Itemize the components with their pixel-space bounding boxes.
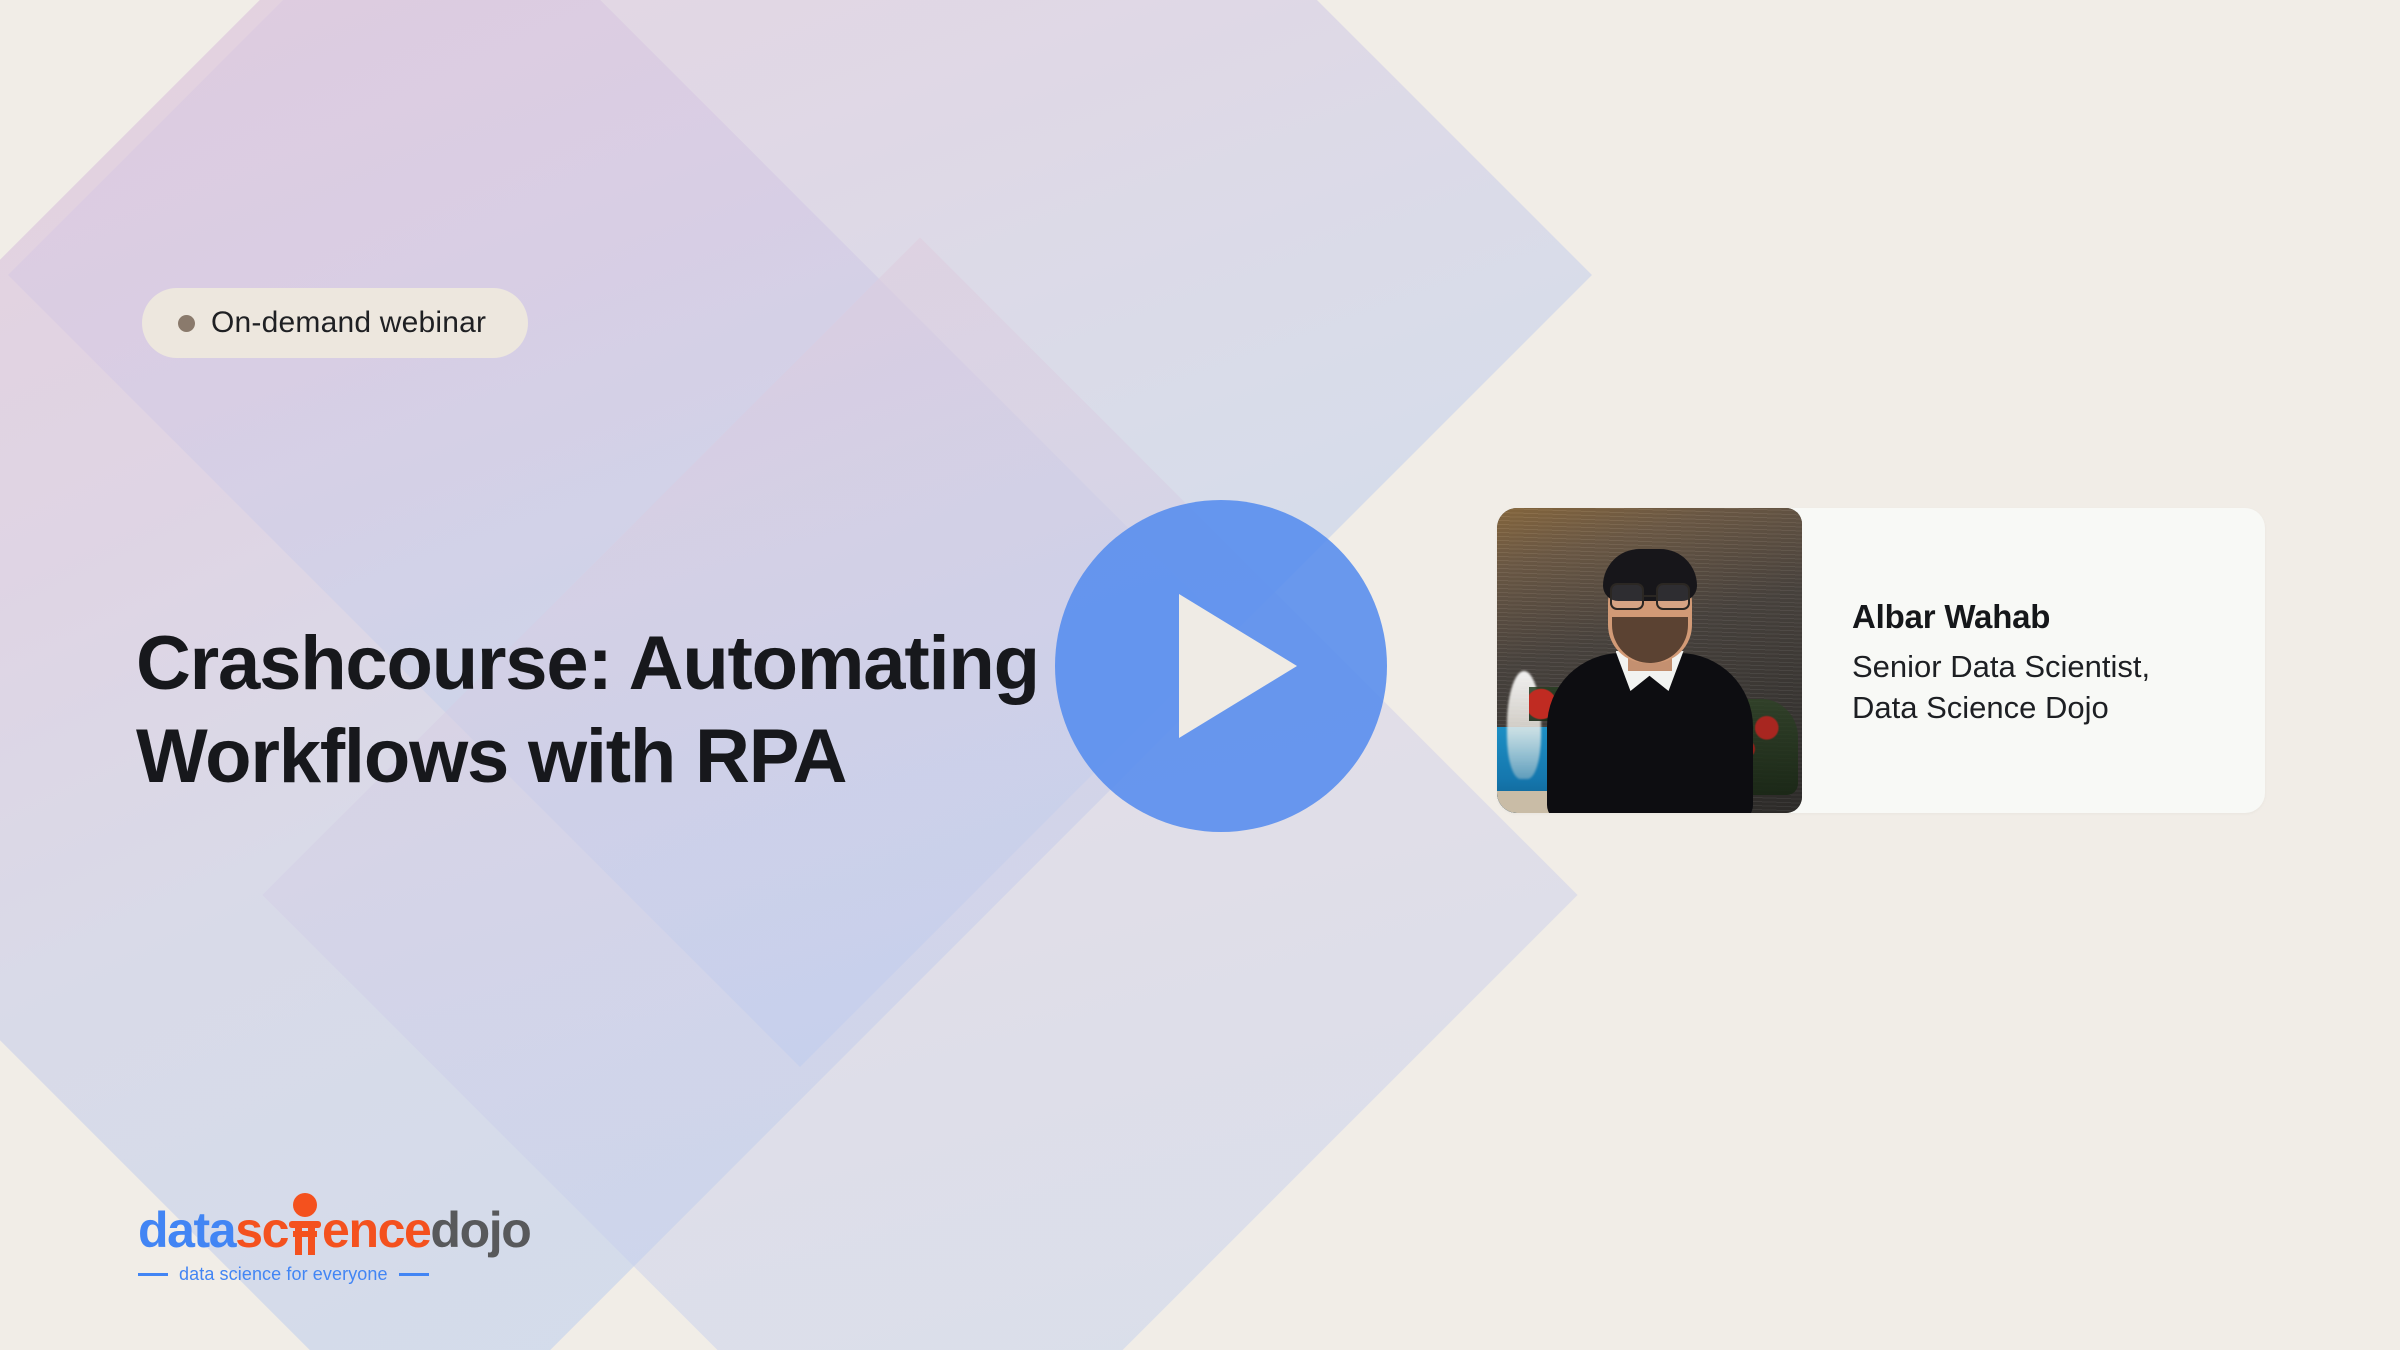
play-button[interactable]	[1055, 500, 1387, 832]
torii-leg-right	[308, 1228, 315, 1255]
status-badge-label: On-demand webinar	[211, 306, 486, 340]
speaker-photo	[1497, 508, 1802, 813]
speaker-role-line-1: Senior Data Scientist,	[1852, 646, 2265, 687]
speaker-info: Albar Wahab Senior Data Scientist, Data …	[1802, 508, 2265, 813]
brand-logo-data: data	[138, 1202, 235, 1258]
speaker-name: Albar Wahab	[1852, 596, 2265, 638]
speaker-role: Senior Data Scientist, Data Science Dojo	[1852, 646, 2265, 728]
brand-logo-dojo: dojo	[430, 1202, 530, 1258]
speaker-role-line-2: Data Science Dojo	[1852, 687, 2265, 728]
glasses-bridge	[1642, 595, 1658, 598]
speaker-card: Albar Wahab Senior Data Scientist, Data …	[1497, 508, 2265, 813]
diamond-shape-front	[8, 0, 1592, 1067]
tagline-dash-left	[138, 1273, 168, 1276]
torii-top-beam	[289, 1221, 321, 1228]
torii-gate-icon	[288, 1205, 322, 1255]
brand-logo-ence: ence	[322, 1202, 430, 1258]
torii-sun-icon	[293, 1193, 317, 1217]
brand-tagline: data science for everyone	[138, 1264, 488, 1285]
tagline-dash-right	[399, 1273, 429, 1276]
tagline-text: data science for everyone	[179, 1264, 388, 1285]
webinar-promo-slide: On-demand webinar Crashcourse: Automatin…	[0, 0, 2400, 1350]
torii-leg-left	[295, 1228, 302, 1255]
brand-logo-sc: sc	[235, 1202, 288, 1258]
status-badge: On-demand webinar	[142, 288, 528, 358]
brand-logo-wordmark: datascencedojo	[138, 1205, 530, 1255]
photo-person-body	[1547, 653, 1753, 813]
brand-logo[interactable]: datascencedojo data science for everyone	[138, 1205, 488, 1285]
play-icon	[1179, 594, 1297, 738]
status-dot-icon	[178, 315, 195, 332]
